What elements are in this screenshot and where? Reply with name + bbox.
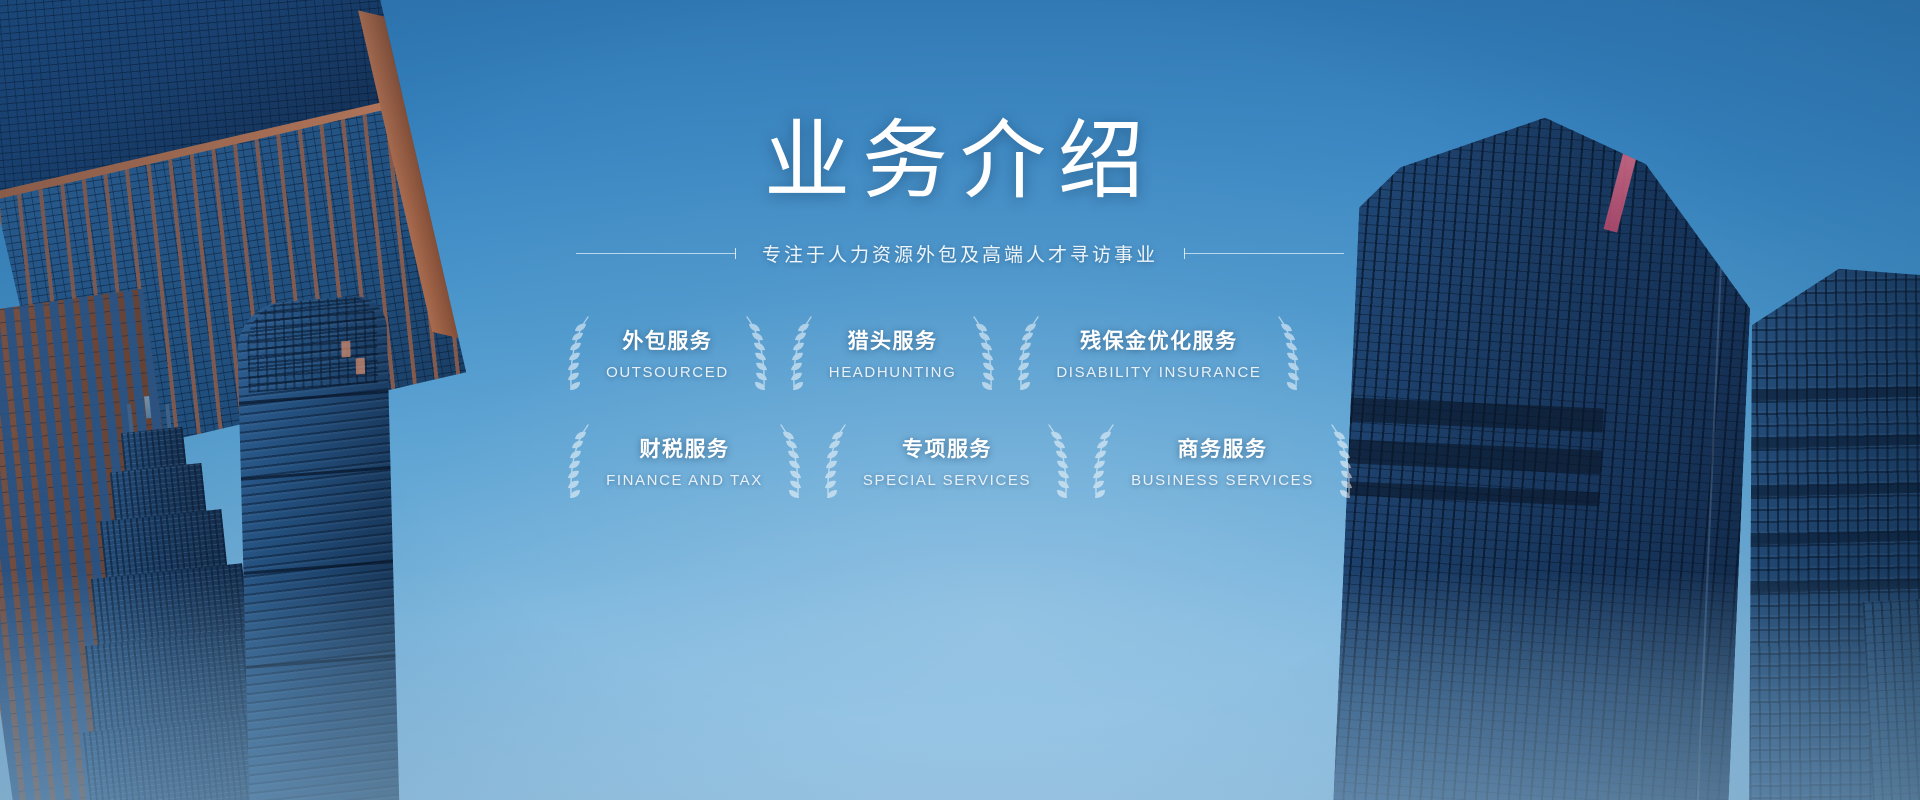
service-labels: 外包服务 OUTSOURCED [592,325,743,381]
service-name-cn: 残保金优化服务 [1080,325,1238,355]
laurel-branch-right-icon [1045,423,1075,499]
service-item-outsourced[interactable]: 外包服务 OUTSOURCED [556,315,779,391]
service-name-cn: 专项服务 [902,433,992,463]
services-grid: 外包服务 OUTSOURCED [556,315,1364,499]
decorative-rule-right [1184,253,1344,254]
laurel-branch-left-icon [562,423,592,499]
service-item-finance-and-tax[interactable]: 财税服务 FINANCE AND TAX [556,423,813,499]
service-labels: 商务服务 BUSINESS SERVICES [1117,433,1328,489]
service-labels: 猎头服务 HEADHUNTING [815,325,971,381]
service-name-cn: 猎头服务 [848,325,938,355]
service-name-en: HEADHUNTING [829,364,957,381]
service-name-en: BUSINESS SERVICES [1131,472,1314,489]
service-item-special-services[interactable]: 专项服务 SPECIAL SERVICES [813,423,1081,499]
service-item-business-services[interactable]: 商务服务 BUSINESS SERVICES [1081,423,1364,499]
service-name-en: DISABILITY INSURANCE [1056,364,1261,381]
subtitle-row: 专注于人力资源外包及高端人才寻访事业 [576,240,1344,267]
service-name-en: FINANCE AND TAX [606,472,763,489]
service-name-en: OUTSOURCED [606,364,729,381]
service-name-cn: 外包服务 [622,325,712,355]
page-title: 业务介绍 [764,118,1156,204]
hero-content: 业务介绍 专注于人力资源外包及高端人才寻访事业 [0,0,1920,800]
laurel-branch-right-icon [970,315,1000,391]
service-item-disability-insurance[interactable]: 残保金优化服务 DISABILITY INSURANCE [1006,315,1311,391]
laurel-branch-left-icon [819,423,849,499]
services-row-2: 财税服务 FINANCE AND TAX [556,423,1364,499]
service-item-headhunting[interactable]: 猎头服务 HEADHUNTING [779,315,1007,391]
services-row-1: 外包服务 OUTSOURCED [556,315,1364,391]
laurel-branch-left-icon [1087,423,1117,499]
service-labels: 财税服务 FINANCE AND TAX [592,433,777,489]
laurel-branch-left-icon [785,315,815,391]
service-name-en: SPECIAL SERVICES [863,472,1031,489]
service-name-cn: 财税服务 [640,433,730,463]
service-labels: 专项服务 SPECIAL SERVICES [849,433,1045,489]
laurel-branch-right-icon [743,315,773,391]
hero-banner: 业务介绍 专注于人力资源外包及高端人才寻访事业 [0,0,1920,800]
laurel-branch-right-icon [1275,315,1305,391]
decorative-rule-left [576,253,736,254]
laurel-branch-right-icon [777,423,807,499]
service-labels: 残保金优化服务 DISABILITY INSURANCE [1042,325,1275,381]
laurel-branch-left-icon [562,315,592,391]
page-subtitle: 专注于人力资源外包及高端人才寻访事业 [736,240,1184,267]
laurel-branch-right-icon [1328,423,1358,499]
laurel-branch-left-icon [1012,315,1042,391]
service-name-cn: 商务服务 [1177,433,1267,463]
